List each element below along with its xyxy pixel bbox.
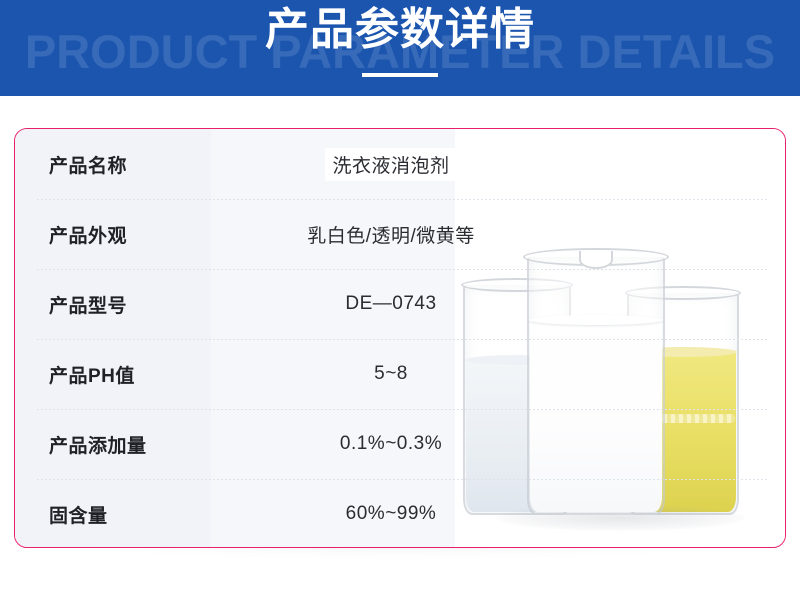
table-row: 产品型号 DE—0743	[15, 269, 786, 339]
parameter-label: 产品外观	[15, 199, 211, 269]
parameter-label: 产品PH值	[15, 339, 211, 409]
parameter-label: 产品名称	[15, 129, 211, 199]
parameter-value: 洗衣液消泡剂	[211, 129, 786, 199]
parameter-value-text: 洗衣液消泡剂	[325, 148, 456, 181]
title-underline-divider	[362, 73, 438, 77]
page-title: 产品参数详情	[0, 4, 800, 56]
table-row: 固含量 60%~99%	[15, 479, 786, 548]
table-row: 产品名称 洗衣液消泡剂	[15, 129, 786, 199]
table-row: 产品PH值 5~8	[15, 339, 786, 409]
product-parameter-card: 产品名称 洗衣液消泡剂 产品外观 乳白色/透明/微黄等 产品型号 DE—0743…	[14, 128, 786, 548]
page-header: PRODUCT PARAMETER DETAILS 产品参数详情	[0, 0, 800, 96]
parameter-table: 产品名称 洗衣液消泡剂 产品外观 乳白色/透明/微黄等 产品型号 DE—0743…	[15, 129, 786, 548]
parameter-label: 固含量	[15, 479, 211, 548]
parameter-value-text: 乳白色/透明/微黄等	[307, 221, 475, 248]
parameter-label: 产品型号	[15, 269, 211, 339]
parameter-value: DE—0743	[211, 269, 786, 339]
parameter-value: 0.1%~0.3%	[211, 409, 786, 479]
parameter-value-text: DE—0743	[345, 293, 436, 315]
parameter-value: 乳白色/透明/微黄等	[211, 199, 786, 269]
table-row: 产品添加量 0.1%~0.3%	[15, 409, 786, 479]
parameter-value: 60%~99%	[211, 479, 786, 548]
parameter-value-text: 0.1%~0.3%	[340, 433, 442, 455]
parameter-value-text: 60%~99%	[346, 503, 437, 525]
parameter-label: 产品添加量	[15, 409, 211, 479]
table-row: 产品外观 乳白色/透明/微黄等	[15, 199, 786, 269]
parameter-value: 5~8	[211, 339, 786, 409]
parameter-value-text: 5~8	[374, 363, 408, 385]
